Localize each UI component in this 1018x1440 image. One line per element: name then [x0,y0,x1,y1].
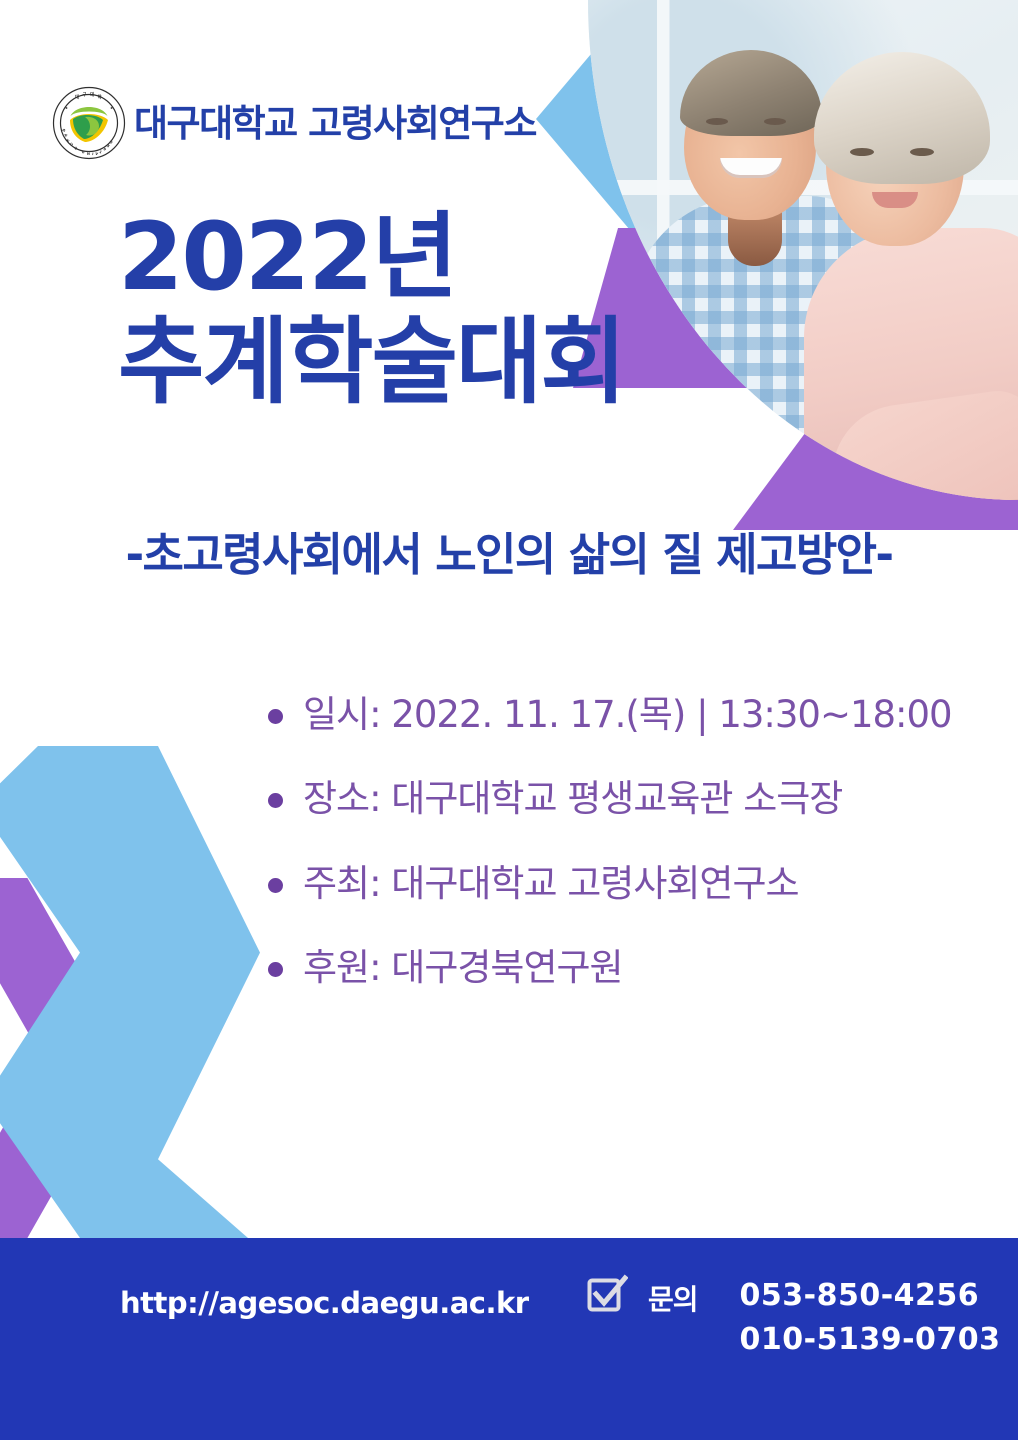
contact-block: 문의 053-850-4256 010-5139-0703 [586,1270,1001,1361]
phone-office[interactable]: 053-850-4256 [740,1274,1001,1318]
page-title: 2022년 추계학술대회 [118,205,625,416]
bullet-icon [268,793,283,808]
event-details-list: 일시: 2022. 11. 17.(목) | 13:30~18:00 장소: 대… [268,692,952,1029]
list-item: 일시: 2022. 11. 17.(목) | 13:30~18:00 [268,692,952,738]
website-url-link[interactable]: http://agesoc.daegu.ac.kr [120,1286,529,1320]
detail-host: 주최: 대구대학교 고령사회연구소 [303,861,799,907]
purple-chevron-bottom-left [0,878,130,1238]
svg-text:대: 대 [75,94,79,101]
woman-sweater [804,228,1018,500]
poster-footer: http://agesoc.daegu.ac.kr 문의 053-850-425… [0,1238,1018,1440]
woman-arm [823,386,1018,500]
bullet-icon [268,878,283,893]
man-hair [680,50,822,136]
man-neck [728,196,782,266]
title-line-event: 추계학술대회 [118,310,625,415]
senior-couple-photo [588,0,1018,500]
detail-date: 일시: 2022. 11. 17.(목) | 13:30~18:00 [303,692,952,738]
man-face [684,62,816,220]
bottom-left-decoration [0,738,300,1238]
poster-root: 대 구 대 학 D A E G U U N I V 1 9 5 [0,0,1018,1440]
contact-label: 문의 [648,1278,698,1318]
bullet-icon [268,709,283,724]
man-shirt [630,196,898,500]
list-item: 후원: 대구경북연구원 [268,945,952,991]
photo-background [588,0,1018,500]
phone-mobile[interactable]: 010-5139-0703 [740,1318,1001,1362]
organization-name: 대구대학교 고령사회연구소 [134,105,536,142]
poster-header: 대 구 대 학 D A E G U U N I V 1 9 5 [52,86,536,160]
woman-face [826,78,964,246]
poster-subtitle: -초고령사회에서 노인의 삶의 질 제고방안- [52,518,966,583]
list-item: 주최: 대구대학교 고령사회연구소 [268,861,952,907]
purple-chevron-shape-lower [733,415,1018,530]
detail-venue: 장소: 대구대학교 평생교육관 소극장 [303,776,842,822]
svg-text:N: N [87,152,90,156]
svg-text:대: 대 [90,91,94,98]
phone-number-list: 053-850-4256 010-5139-0703 [740,1274,1001,1361]
title-line-year: 2022년 [118,205,625,310]
woman-eye-left [850,148,874,156]
daegu-university-emblem-icon: 대 구 대 학 D A E G U U N I V 1 9 5 [52,86,126,160]
woman-eye-right [910,148,934,156]
woman-hair [814,52,990,184]
svg-text:학: 학 [98,94,102,101]
svg-text:구: 구 [83,91,87,98]
detail-sponsor: 후원: 대구경북연구원 [303,945,623,991]
man-eye-left [706,118,728,125]
list-item: 장소: 대구대학교 평생교육관 소극장 [268,776,952,822]
checkbox-checked-icon [586,1274,628,1316]
blue-chevron-bottom-left [0,746,260,1238]
man-smile [720,158,782,178]
man-eye-right [764,118,786,125]
bullet-icon [268,962,283,977]
woman-lips [872,192,918,208]
